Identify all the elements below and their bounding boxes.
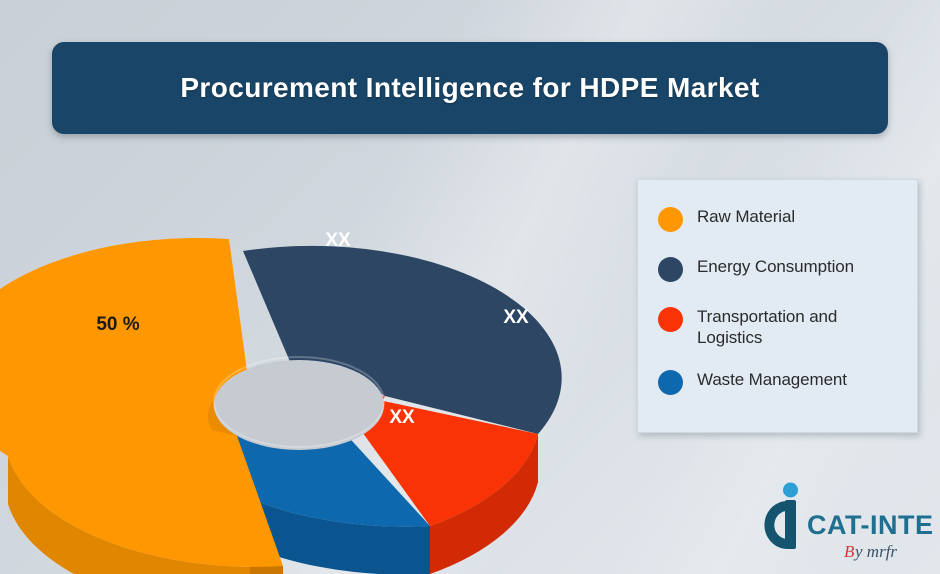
slide-canvas: Procurement Intelligence for HDPE Market: [0, 0, 940, 574]
slice-label-energy-consumption: XX: [325, 230, 351, 251]
logo-wordmark: CAT-INTEL: [807, 510, 932, 540]
legend-item-raw-material[interactable]: Raw Material: [638, 206, 917, 236]
brand-logo-svg: CAT-INTEL B y mrfr: [752, 478, 932, 564]
title-banner: Procurement Intelligence for HDPE Market: [52, 42, 888, 134]
page-title: Procurement Intelligence for HDPE Market: [180, 72, 759, 104]
logo-i-stem-icon: [785, 500, 796, 549]
legend-label-waste-management: Waste Management: [697, 369, 847, 390]
donut-chart: 50 % XX XX XX: [0, 178, 620, 558]
slice-label-raw-material: 50 %: [96, 314, 139, 335]
slice-label-transportation: XX: [503, 307, 529, 328]
brand-logo[interactable]: CAT-INTEL B y mrfr: [752, 478, 932, 564]
legend-label-transportation: Transportation and Logistics: [697, 306, 907, 349]
legend-label-energy-consumption: Energy Consumption: [697, 256, 854, 277]
slice-label-waste-management: XX: [389, 407, 415, 428]
legend-item-waste-management[interactable]: Waste Management: [638, 369, 917, 399]
logo-tagline-accent: B: [844, 542, 855, 561]
logo-i-dot-icon: [783, 483, 798, 498]
legend-item-energy-consumption[interactable]: Energy Consumption: [638, 256, 917, 286]
donut-hole: [214, 360, 384, 450]
legend-item-transportation[interactable]: Transportation and Logistics: [638, 306, 917, 349]
legend-swatch-raw-material: [658, 207, 683, 232]
legend-label-raw-material: Raw Material: [697, 206, 795, 227]
legend-swatch-energy-consumption: [658, 257, 683, 282]
chart-legend: Raw Material Energy Consumption Transpor…: [637, 179, 918, 433]
logo-tagline: y mrfr: [853, 542, 897, 561]
legend-swatch-transportation: [658, 307, 683, 332]
donut-chart-svg: 50 % XX XX XX: [0, 178, 620, 558]
legend-swatch-waste-management: [658, 370, 683, 395]
